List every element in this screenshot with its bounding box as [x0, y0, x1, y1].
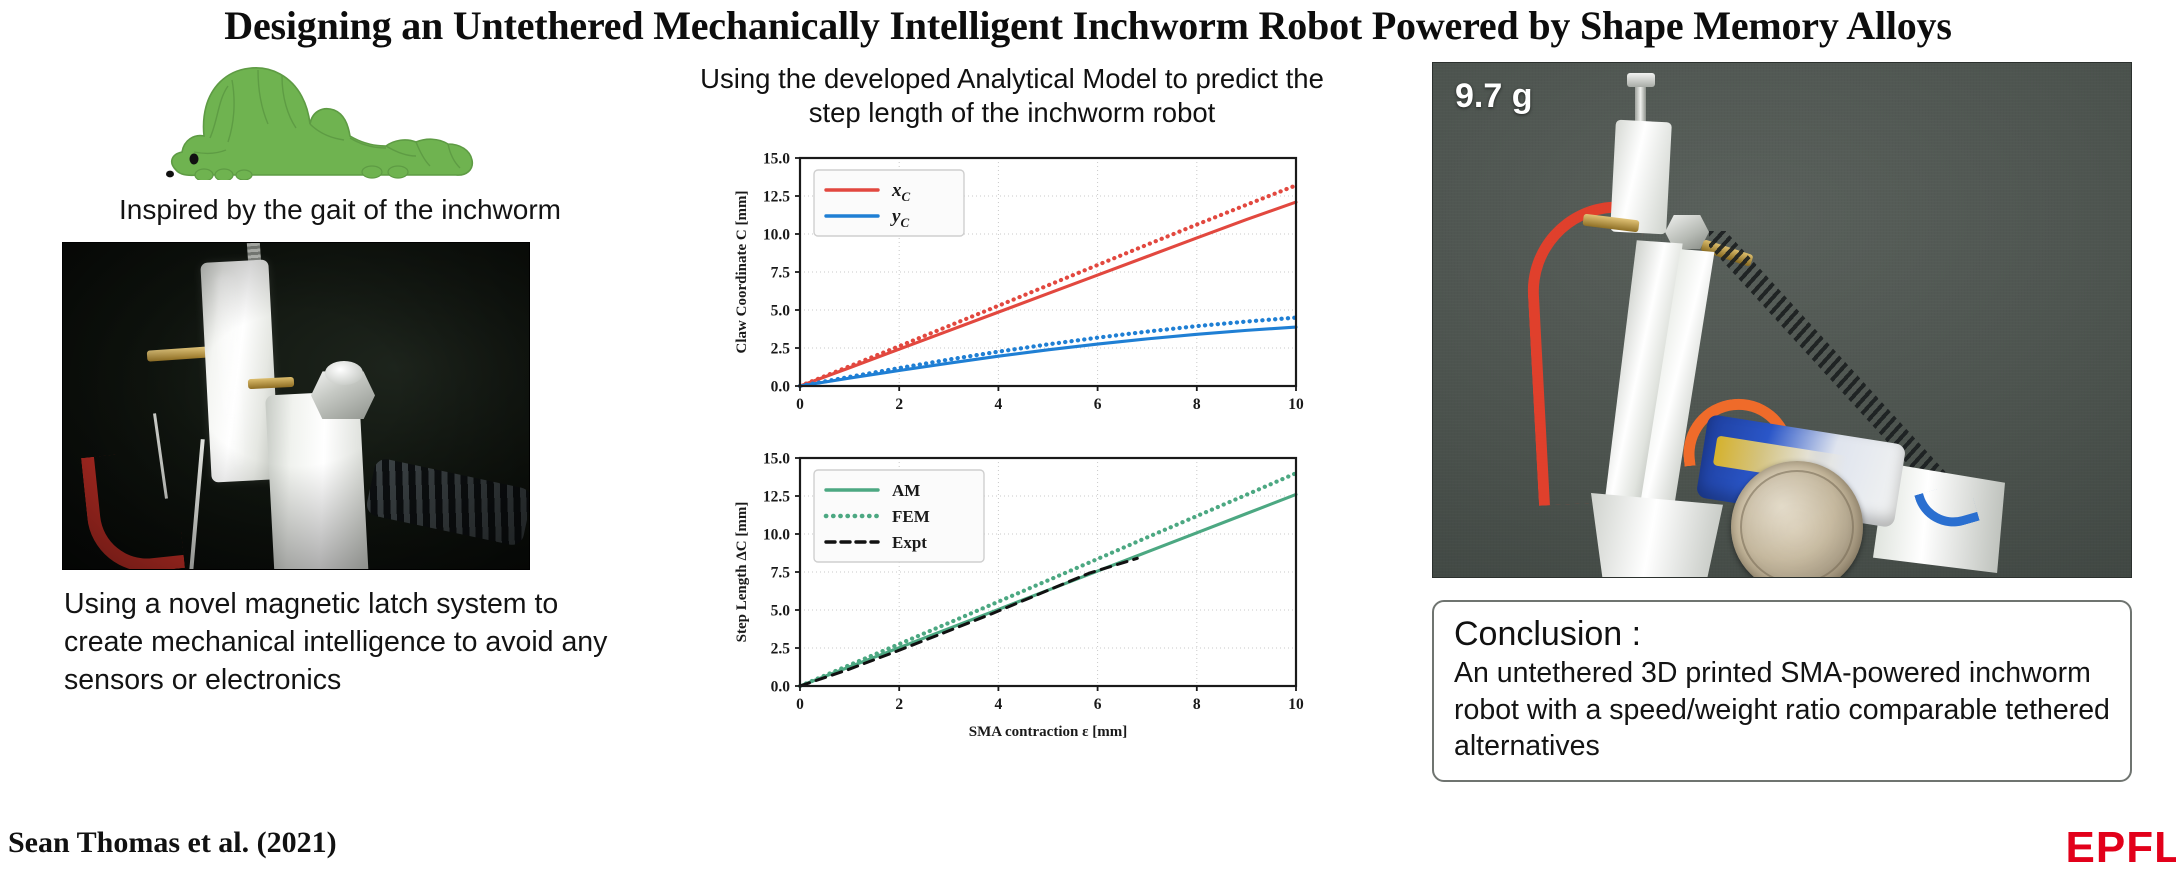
inchworm-icon [158, 62, 518, 180]
svg-text:2: 2 [895, 696, 903, 713]
svg-text:Step Length ΔC [mm]: Step Length ΔC [mm] [734, 502, 750, 643]
svg-text:4: 4 [995, 396, 1003, 413]
svg-text:0: 0 [796, 696, 804, 713]
svg-text:15.0: 15.0 [763, 451, 790, 468]
magnetic-latch-caption: Using a novel magnetic latch system to c… [40, 586, 640, 700]
svg-text:10: 10 [1288, 696, 1304, 713]
author-citation: Sean Thomas et al. (2021) [8, 826, 337, 860]
inchworm-illustration [40, 62, 640, 180]
svg-text:15.0: 15.0 [763, 151, 790, 168]
svg-text:2.5: 2.5 [771, 641, 791, 658]
svg-text:10: 10 [1288, 396, 1304, 413]
svg-text:5.0: 5.0 [771, 303, 791, 320]
svg-text:10.0: 10.0 [763, 527, 790, 544]
graphical-abstract-page: Designing an Untethered Mechanically Int… [0, 0, 2176, 886]
svg-text:0.0: 0.0 [771, 679, 791, 696]
robot-photo: 9.7 g [1432, 62, 2132, 578]
inchworm-caption: Inspired by the gait of the inchworm [40, 192, 640, 228]
svg-text:12.5: 12.5 [763, 189, 790, 206]
svg-text:12.5: 12.5 [763, 489, 790, 506]
svg-text:6: 6 [1094, 696, 1102, 713]
chart-step-length: 02468100.02.55.07.510.012.515.0Step Leng… [672, 444, 1332, 774]
svg-text:Claw Coordinate C [mm]: Claw Coordinate C [mm] [734, 191, 750, 354]
front-foot [1591, 493, 1723, 578]
svg-text:6: 6 [1094, 396, 1102, 413]
conclusion-title: Conclusion : [1454, 616, 2110, 653]
svg-text:0: 0 [796, 396, 804, 413]
middle-column: Using the developed Analytical Model to … [672, 62, 1352, 782]
charts-container: 02468100.02.55.07.510.012.515.0Claw Coor… [672, 144, 1352, 744]
mass-badge: 9.7 g [1455, 77, 1532, 116]
svg-text:SMA contraction ε [mm]: SMA contraction ε [mm] [969, 724, 1127, 740]
page-title: Designing an Untethered Mechanically Int… [0, 2, 2176, 49]
svg-text:8: 8 [1193, 696, 1201, 713]
chart-claw-coordinate: 02468100.02.55.07.510.012.515.0Claw Coor… [672, 144, 1332, 444]
conclusion-box: Conclusion : An untethered 3D printed SM… [1432, 600, 2132, 782]
magnetic-latch-photo [62, 242, 530, 570]
svg-text:10.0: 10.0 [763, 227, 790, 244]
left-column: Inspired by the gait of the inchworm Usi… [40, 62, 640, 782]
svg-text:7.5: 7.5 [771, 565, 791, 582]
svg-text:4: 4 [995, 696, 1003, 713]
svg-text:0.0: 0.0 [771, 379, 791, 396]
svg-text:Expt: Expt [892, 533, 927, 552]
svg-text:2: 2 [895, 396, 903, 413]
svg-text:7.5: 7.5 [771, 265, 791, 282]
epfl-logo: EPFL [2066, 826, 2176, 870]
svg-text:AM: AM [892, 481, 920, 500]
svg-text:8: 8 [1193, 396, 1201, 413]
charts-heading: Using the developed Analytical Model to … [672, 62, 1352, 130]
right-column: 9.7 g Conclusion : An untethered 3D prin… [1432, 62, 2144, 782]
charts-heading-line1: Using the developed Analytical Model to … [686, 62, 1338, 96]
svg-text:5.0: 5.0 [771, 603, 791, 620]
svg-text:FEM: FEM [892, 507, 930, 526]
svg-text:2.5: 2.5 [771, 341, 791, 358]
conclusion-body: An untethered 3D printed SMA-powered inc… [1454, 655, 2110, 764]
charts-heading-line2: step length of the inchworm robot [686, 96, 1338, 130]
screw-head [1627, 73, 1655, 87]
photo-vignette [63, 243, 529, 569]
